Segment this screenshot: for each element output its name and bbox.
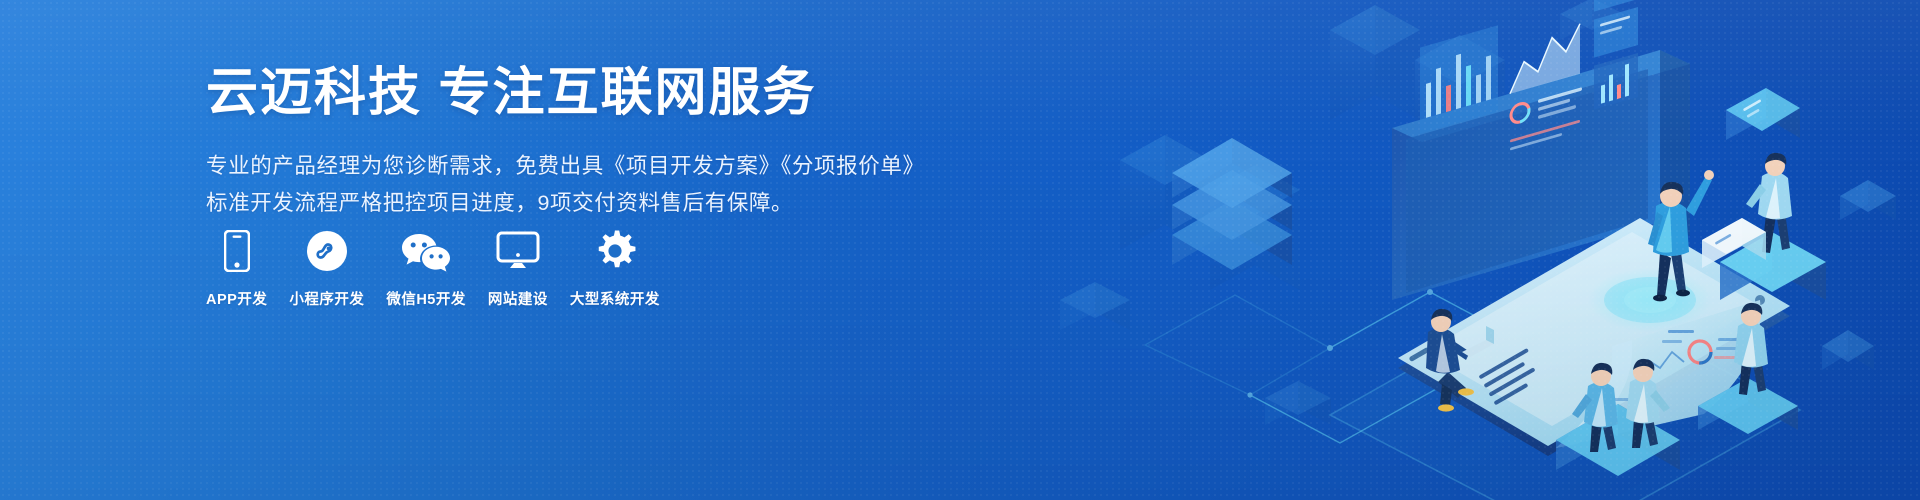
platform-glow [1588,268,1712,332]
page-title: 云迈科技 专注互联网服务 [206,64,926,122]
service-item-wechat-h5[interactable]: 微信H5开发 [386,228,466,309]
service-item-miniprogram[interactable]: 小程序开发 [289,228,364,309]
curved-data-sheet [1556,300,1761,448]
seated-person-laptop [1426,309,1494,412]
service-label: 大型系统开发 [570,288,660,309]
mobile-phone-icon [224,228,250,274]
service-item-app[interactable]: APP开发 [206,228,267,309]
isometric-tech-illustration [1000,0,1920,500]
service-item-website[interactable]: 网站建设 [488,228,548,309]
service-label: 小程序开发 [289,288,364,309]
mini-program-icon [306,228,348,274]
service-label: APP开发 [206,288,267,309]
floating-cubes-right [1822,180,1896,370]
server-stack-block [1172,138,1292,270]
data-chart-panels [1420,0,1638,151]
subtitle-line-1: 专业的产品经理为您诊断需求，免费出具《项目开发方案》《分项报价单》 [206,148,926,185]
hero-banner: 云迈科技 专注互联网服务 专业的产品经理为您诊断需求，免费出具《项目开发方案》《… [0,0,1920,500]
smartphone-platform [1398,218,1790,456]
subtitle-line-2: 标准开发流程严格把控项目进度，9项交付资料售后有保障。 [206,185,926,222]
wechat-icon [401,228,451,274]
lower-right-platform [1698,303,1798,434]
service-label: 网站建设 [488,288,548,309]
banner-text-content: 云迈科技 专注互联网服务 专业的产品经理为您诊断需求，免费出具《项目开发方案》《… [206,64,926,222]
network-connector-lines [1145,289,1560,443]
service-label: 微信H5开发 [386,288,466,309]
document-lines [1478,348,1543,405]
isometric-city-blocks [1060,0,1624,425]
service-item-large-system[interactable]: 大型系统开发 [570,228,660,309]
floating-panel-small [1726,88,1800,140]
monitor-icon [496,228,540,274]
service-list: APP开发 小程序开发 [206,228,660,309]
floor-plate [1330,285,1800,500]
banner-subtitle: 专业的产品经理为您诊断需求，免费出具《项目开发方案》《分项报价单》 标准开发流程… [206,148,926,222]
dashboard-screen [1392,0,1690,322]
person-on-cube-platform [1702,88,1826,300]
standing-person-pointing [1648,170,1714,301]
two-people-talking [1556,359,1680,476]
gear-icon [594,228,636,274]
